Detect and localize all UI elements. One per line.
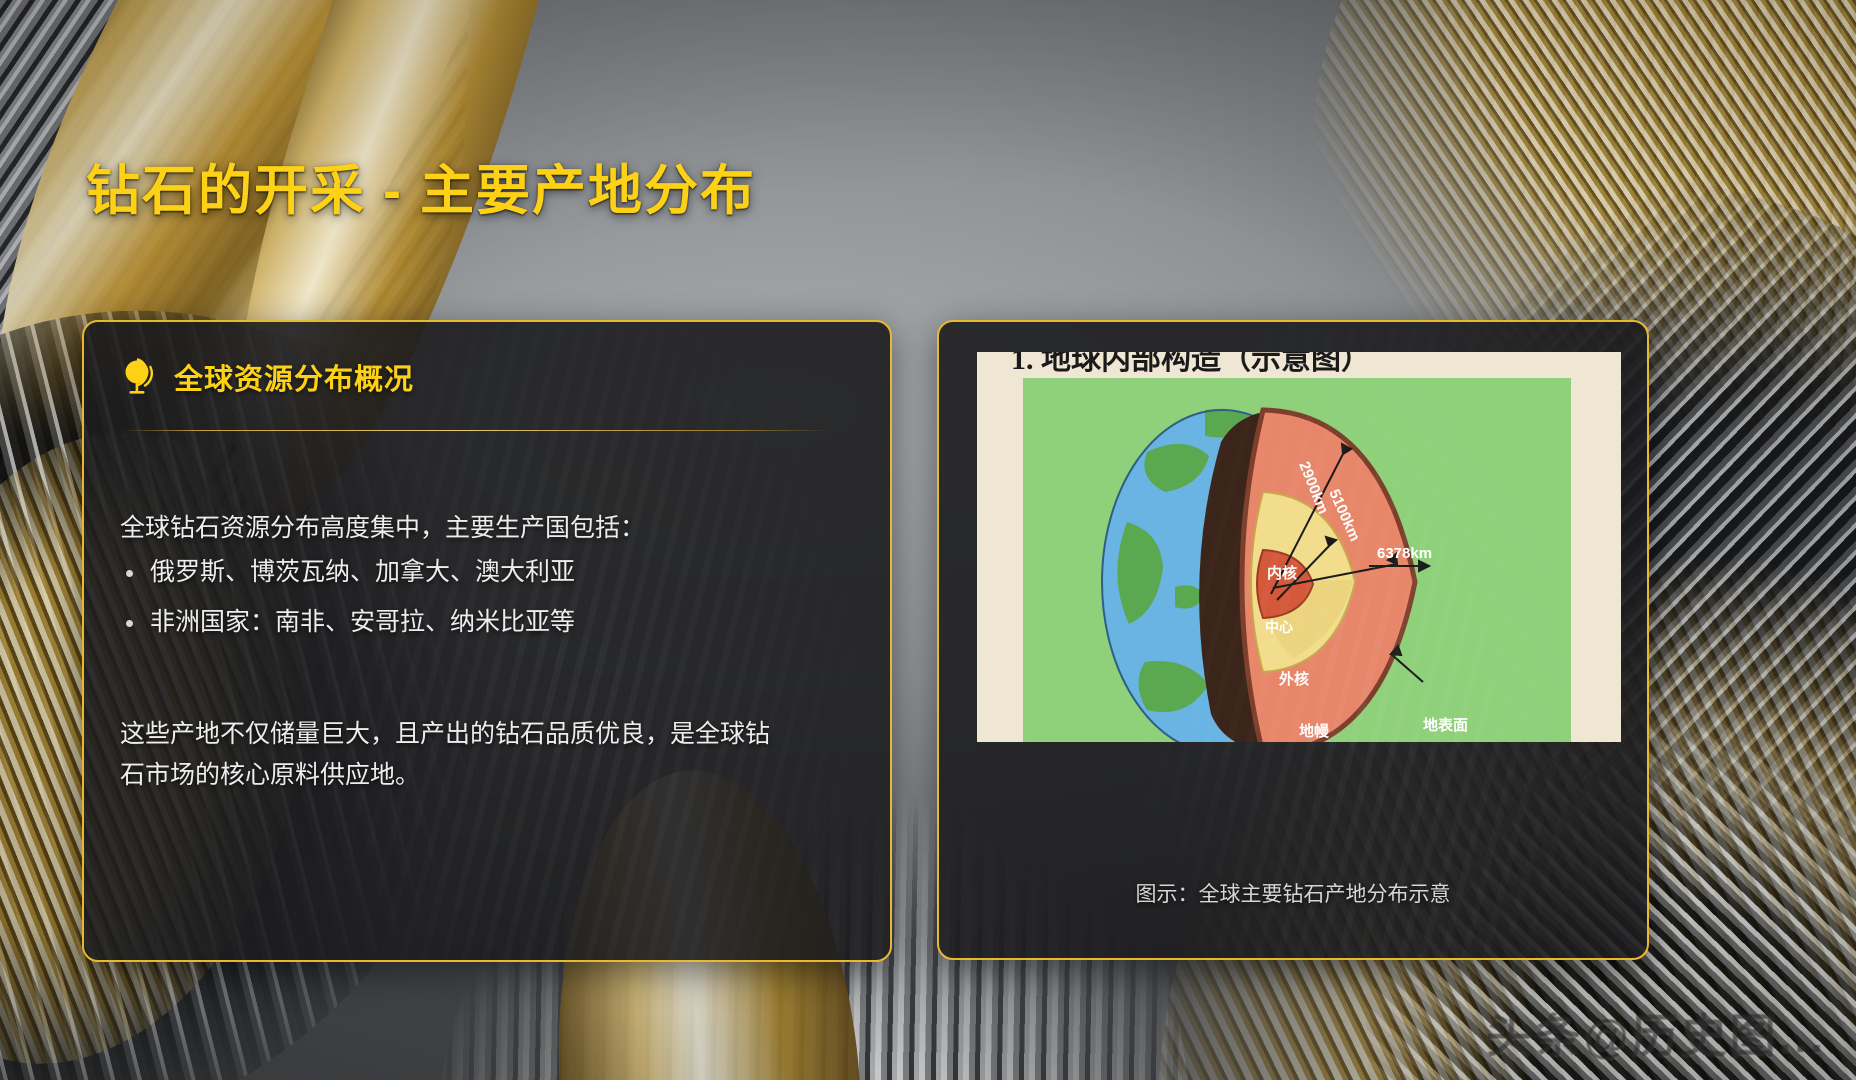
figure-card: 1. 地球内部构造（示意图） bbox=[937, 320, 1649, 960]
figure-caption: 图示：全球主要钻石产地分布示意 bbox=[939, 878, 1647, 908]
panel-title: 全球资源分布概况 bbox=[174, 356, 414, 398]
global-resources-card: 全球资源分布概况 全球钻石资源分布高度集中，主要生产国包括： 俄罗斯、博茨瓦纳、… bbox=[82, 320, 892, 962]
page-title: 钻石的开采 - 主要产地分布 bbox=[86, 146, 756, 225]
layer-label-outer-core: 外核 bbox=[1278, 670, 1309, 688]
producer-list: 俄罗斯、博茨瓦纳、加拿大、澳大利亚 非洲国家：南非、安哥拉、纳米比亚等 bbox=[120, 554, 850, 653]
panel-divider bbox=[120, 430, 830, 431]
closing-paragraph: 这些产地不仅储量巨大，且产出的钻石品质优良，是全球钻石市场的核心原料供应地。 bbox=[120, 714, 780, 795]
layer-label-mantle: 地幔 bbox=[1299, 722, 1330, 740]
layer-label-center: 中心 bbox=[1265, 619, 1293, 635]
layer-label-inner-core: 内核 bbox=[1267, 564, 1297, 582]
panel-header: 全球资源分布概况 bbox=[120, 356, 414, 398]
globe-icon bbox=[120, 357, 158, 397]
list-item: 非洲国家：南非、安哥拉、纳米比亚等 bbox=[120, 604, 850, 642]
lead-paragraph: 全球钻石资源分布高度集中，主要生产国包括： bbox=[120, 510, 840, 546]
figure-image: 1. 地球内部构造（示意图） bbox=[977, 352, 1621, 742]
list-item: 俄罗斯、博茨瓦纳、加拿大、澳大利亚 bbox=[120, 554, 850, 592]
layer-label-surface: 地表面 bbox=[1423, 716, 1468, 734]
depth-label-6378km: 6378km bbox=[1377, 545, 1432, 562]
figure-frame: 1. 地球内部构造（示意图） bbox=[977, 352, 1621, 742]
earth-cutaway-diagram: 2900km 5100km 6378km 内核 中心 外核 地幔 地表面 bbox=[977, 352, 1621, 742]
